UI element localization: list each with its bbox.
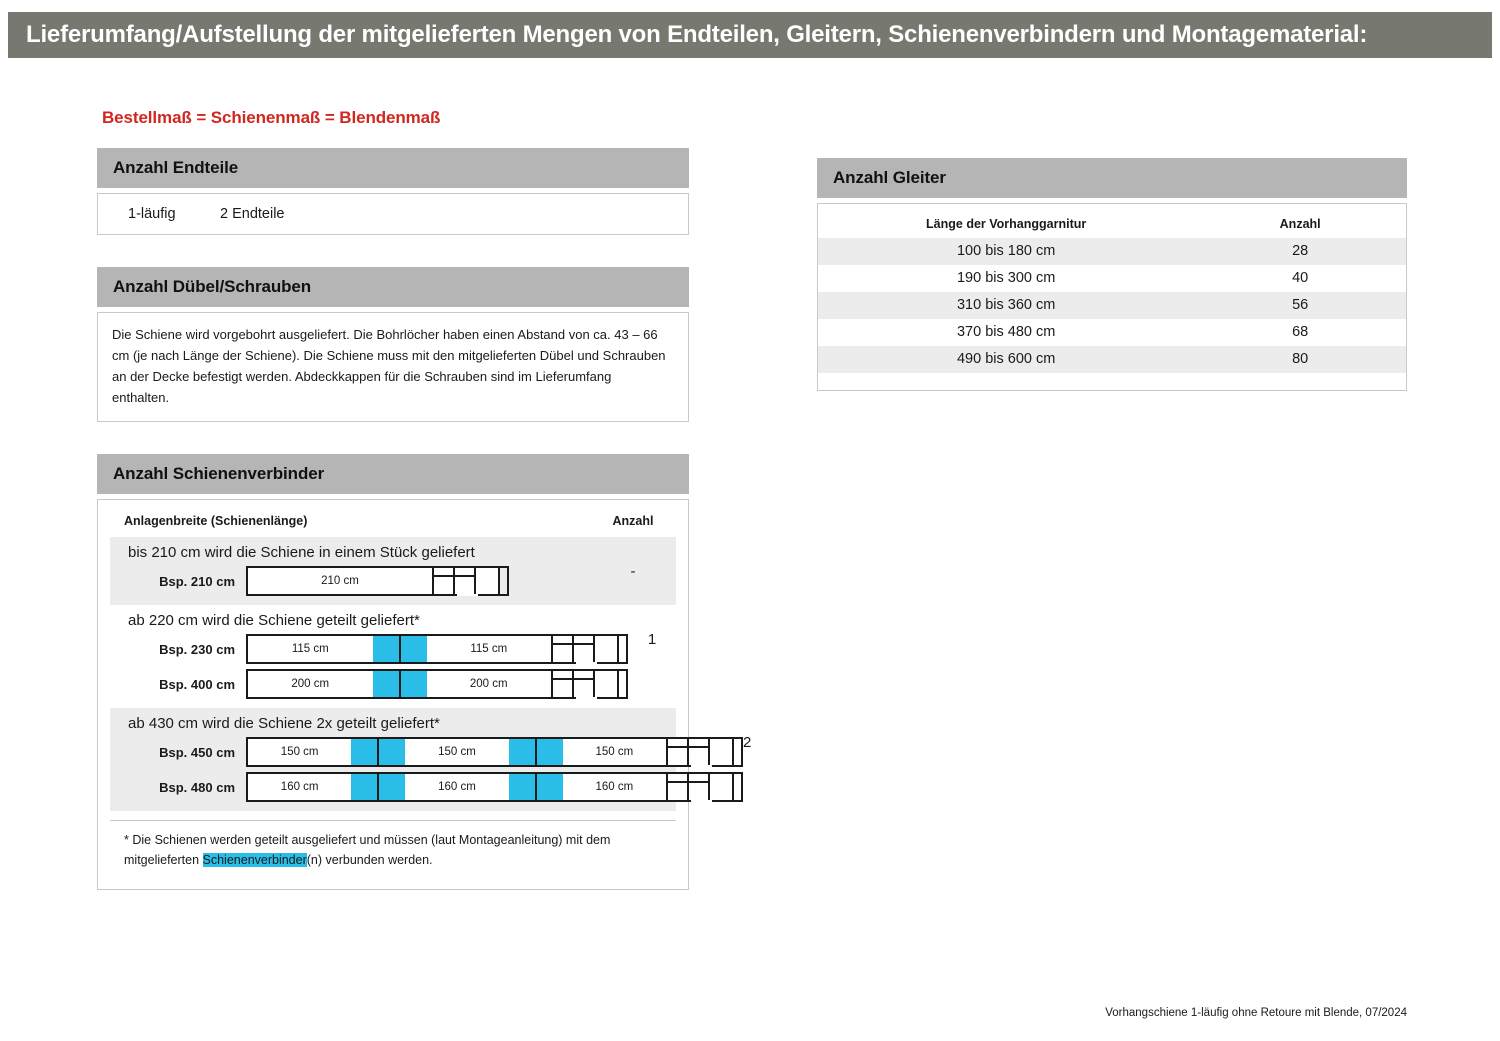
- example-row: Bsp. 230 cm115 cm115 cm: [128, 634, 628, 664]
- gleiter-length: 100 bis 180 cm: [818, 238, 1194, 265]
- table-row: 310 bis 360 cm56: [818, 292, 1406, 319]
- group-count: 2: [743, 708, 751, 811]
- page-footer: Vorhangschiene 1-läufig ohne Retoure mit…: [1105, 1007, 1407, 1019]
- group-caption: ab 430 cm wird die Schiene 2x geteilt ge…: [128, 715, 743, 732]
- rail-nose-part: [741, 772, 743, 802]
- rail-segment-label: 160 cm: [563, 774, 666, 800]
- column-header-length: Länge der Vorhanggarnitur: [818, 208, 1194, 238]
- rail-endcap-cell: [689, 774, 710, 800]
- rail-segment-label: 150 cm: [405, 739, 508, 765]
- page-title: Lieferumfang/Aufstellung der mitgeliefer…: [8, 21, 1367, 49]
- section-header-gleiter: Anzahl Gleiter: [817, 158, 1407, 198]
- schienenverbinder-table: Anlagenbreite (Schienenlänge) Anzahl bis…: [98, 500, 688, 889]
- gleiter-count: 56: [1194, 292, 1406, 319]
- group-count: 1: [628, 605, 676, 708]
- spacer: [97, 235, 689, 267]
- rail-diagram: 200 cm200 cm: [246, 669, 628, 699]
- footnote-text-end: (n) verbunden werden.: [307, 853, 433, 867]
- group-count: -: [590, 537, 676, 605]
- rail-segment-label: 200 cm: [427, 671, 552, 697]
- measurement-note: Bestellmaß = Schienenmaß = Blendenmaß: [102, 108, 689, 128]
- table-header-row: Länge der Vorhanggarnitur Anzahl: [818, 208, 1406, 238]
- example-row: Bsp. 480 cm160 cm160 cm160 cm: [128, 772, 743, 802]
- section-duebel: Anzahl Dübel/Schrauben Die Schiene wird …: [97, 267, 689, 422]
- rail-endcap-cell: [668, 774, 689, 800]
- table-row: 1-läufig 2 Endteile: [98, 194, 688, 234]
- schienenverbinder-group: ab 220 cm wird die Schiene geteilt gelie…: [110, 605, 676, 708]
- rail-endcap-cell: [595, 671, 617, 697]
- rail-diagram: 160 cm160 cm160 cm: [246, 772, 743, 802]
- column-header-width: Anlagenbreite (Schienenlänge): [124, 514, 590, 528]
- group-content: ab 220 cm wird die Schiene geteilt gelie…: [110, 605, 628, 708]
- rail-connector: [373, 671, 399, 697]
- table-header-row: Anlagenbreite (Schienenlänge) Anzahl: [110, 510, 676, 537]
- endteile-count: 2 Endteile: [220, 206, 285, 222]
- rail-nose-part: [741, 737, 743, 767]
- rail-nose-part: [626, 669, 628, 699]
- footnote-highlight: Schienenverbinder: [203, 853, 307, 867]
- rail-nose: [500, 566, 509, 596]
- table-row: 190 bis 300 cm40: [818, 265, 1406, 292]
- section-header-endteile: Anzahl Endteile: [97, 148, 689, 188]
- rail-body: 200 cm200 cm: [246, 669, 551, 699]
- rail-endcap-cell: [574, 671, 595, 697]
- schienenverbinder-groups: bis 210 cm wird die Schiene in einem Stü…: [110, 537, 676, 811]
- gleiter-length: 370 bis 480 cm: [818, 319, 1194, 346]
- section-body-schienenverbinder: Anlagenbreite (Schienenlänge) Anzahl bis…: [97, 499, 689, 890]
- example-label: Bsp. 400 cm: [128, 677, 246, 692]
- rail-connector: [537, 739, 563, 765]
- gleiter-table: Länge der Vorhanggarnitur Anzahl 100 bis…: [818, 208, 1406, 373]
- rail-diagram: 210 cm: [246, 566, 509, 596]
- rail-segment-label: 115 cm: [427, 636, 552, 662]
- rail-connector: [509, 774, 535, 800]
- table-row: 100 bis 180 cm28: [818, 238, 1406, 265]
- rail-segment-label: 200 cm: [248, 671, 373, 697]
- rail-nose-part: [507, 566, 509, 596]
- rail-nose-part: [626, 634, 628, 664]
- rail-nose: [619, 634, 628, 664]
- rail-connector: [373, 636, 399, 662]
- section-body-endteile: 1-läufig 2 Endteile: [97, 193, 689, 235]
- rail-endcap-cell: [710, 739, 732, 765]
- schienenverbinder-group: bis 210 cm wird die Schiene in einem Stü…: [110, 537, 676, 605]
- rail-endcap-cell: [689, 739, 710, 765]
- table-row: 490 bis 600 cm80: [818, 346, 1406, 373]
- rail-diagram: 115 cm115 cm: [246, 634, 628, 664]
- rail-connector: [379, 774, 405, 800]
- example-row: Bsp. 210 cm210 cm: [128, 566, 590, 596]
- rail-connector: [401, 671, 427, 697]
- rail-connector: [351, 739, 377, 765]
- section-body-duebel: Die Schiene wird vorgebohrt ausgeliefert…: [97, 312, 689, 422]
- column-header-count: Anzahl: [1194, 208, 1406, 238]
- duebel-description: Die Schiene wird vorgebohrt ausgeliefert…: [98, 313, 688, 421]
- schienenverbinder-group: ab 430 cm wird die Schiene 2x geteilt ge…: [110, 708, 676, 811]
- rail-connector: [401, 636, 427, 662]
- gleiter-length: 310 bis 360 cm: [818, 292, 1194, 319]
- example-label: Bsp. 450 cm: [128, 745, 246, 760]
- example-row: Bsp. 450 cm150 cm150 cm150 cm: [128, 737, 743, 767]
- rail-diagram: 150 cm150 cm150 cm: [246, 737, 743, 767]
- rail-endcap-cell: [553, 671, 574, 697]
- endteile-variant: 1-läufig: [128, 206, 220, 222]
- rail-nose: [734, 737, 743, 767]
- rail-endcap-cell: [574, 636, 595, 662]
- column-header-count: Anzahl: [590, 514, 676, 528]
- example-label: Bsp. 230 cm: [128, 642, 246, 657]
- rail-body: 160 cm160 cm160 cm: [246, 772, 666, 802]
- section-header-duebel: Anzahl Dübel/Schrauben: [97, 267, 689, 307]
- rail-segment-label: 150 cm: [248, 739, 351, 765]
- example-label: Bsp. 210 cm: [128, 574, 246, 589]
- rail-connector: [379, 739, 405, 765]
- rail-nose: [619, 669, 628, 699]
- rail-endcap: [551, 669, 619, 699]
- rail-endcap: [666, 737, 734, 767]
- gleiter-length: 490 bis 600 cm: [818, 346, 1194, 373]
- rail-segment-label: 160 cm: [248, 774, 351, 800]
- rail-connector: [351, 774, 377, 800]
- page-banner: Lieferumfang/Aufstellung der mitgeliefer…: [8, 12, 1492, 58]
- gleiter-length: 190 bis 300 cm: [818, 265, 1194, 292]
- gleiter-count: 68: [1194, 319, 1406, 346]
- gleiter-count: 40: [1194, 265, 1406, 292]
- gleiter-count: 80: [1194, 346, 1406, 373]
- rail-endcap-cell: [455, 568, 476, 594]
- rail-endcap-cell: [553, 636, 574, 662]
- rail-endcap-cell: [434, 568, 455, 594]
- gleiter-table-body: 100 bis 180 cm28190 bis 300 cm40310 bis …: [818, 238, 1406, 373]
- example-row: Bsp. 400 cm200 cm200 cm: [128, 669, 628, 699]
- rail-endcap: [666, 772, 734, 802]
- example-label: Bsp. 480 cm: [128, 780, 246, 795]
- rail-segment-label: 115 cm: [248, 636, 373, 662]
- rail-connector: [509, 739, 535, 765]
- group-content: bis 210 cm wird die Schiene in einem Stü…: [110, 537, 590, 605]
- section-schienenverbinder: Anzahl Schienenverbinder Anlagenbreite (…: [97, 454, 689, 890]
- right-column: Anzahl Gleiter Länge der Vorhanggarnitur…: [817, 158, 1407, 391]
- group-caption: bis 210 cm wird die Schiene in einem Stü…: [128, 544, 590, 561]
- section-gleiter: Anzahl Gleiter Länge der Vorhanggarnitur…: [817, 158, 1407, 391]
- rail-endcap-cell: [595, 636, 617, 662]
- rail-nose: [734, 772, 743, 802]
- rail-segment-label: 210 cm: [248, 568, 432, 594]
- rail-endcap: [551, 634, 619, 664]
- table-row: 370 bis 480 cm68: [818, 319, 1406, 346]
- schienenverbinder-footnote: * Die Schienen werden geteilt ausgeliefe…: [110, 820, 676, 877]
- rail-body: 210 cm: [246, 566, 432, 596]
- group-content: ab 430 cm wird die Schiene 2x geteilt ge…: [110, 708, 743, 811]
- group-caption: ab 220 cm wird die Schiene geteilt gelie…: [128, 612, 628, 629]
- rail-endcap-cell: [668, 739, 689, 765]
- section-endteile: Anzahl Endteile 1-läufig 2 Endteile: [97, 148, 689, 235]
- spacer: [818, 373, 1406, 390]
- rail-segment-label: 150 cm: [563, 739, 666, 765]
- spacer: [97, 422, 689, 454]
- rail-endcap-cell: [476, 568, 498, 594]
- rail-connector: [537, 774, 563, 800]
- rail-endcap: [432, 566, 500, 596]
- gleiter-count: 28: [1194, 238, 1406, 265]
- rail-body: 115 cm115 cm: [246, 634, 551, 664]
- rail-endcap-cell: [710, 774, 732, 800]
- rail-body: 150 cm150 cm150 cm: [246, 737, 666, 767]
- section-header-schienenverbinder: Anzahl Schienenverbinder: [97, 454, 689, 494]
- left-column: Bestellmaß = Schienenmaß = Blendenmaß An…: [97, 108, 689, 890]
- section-body-gleiter: Länge der Vorhanggarnitur Anzahl 100 bis…: [817, 203, 1407, 391]
- rail-segment-label: 160 cm: [405, 774, 508, 800]
